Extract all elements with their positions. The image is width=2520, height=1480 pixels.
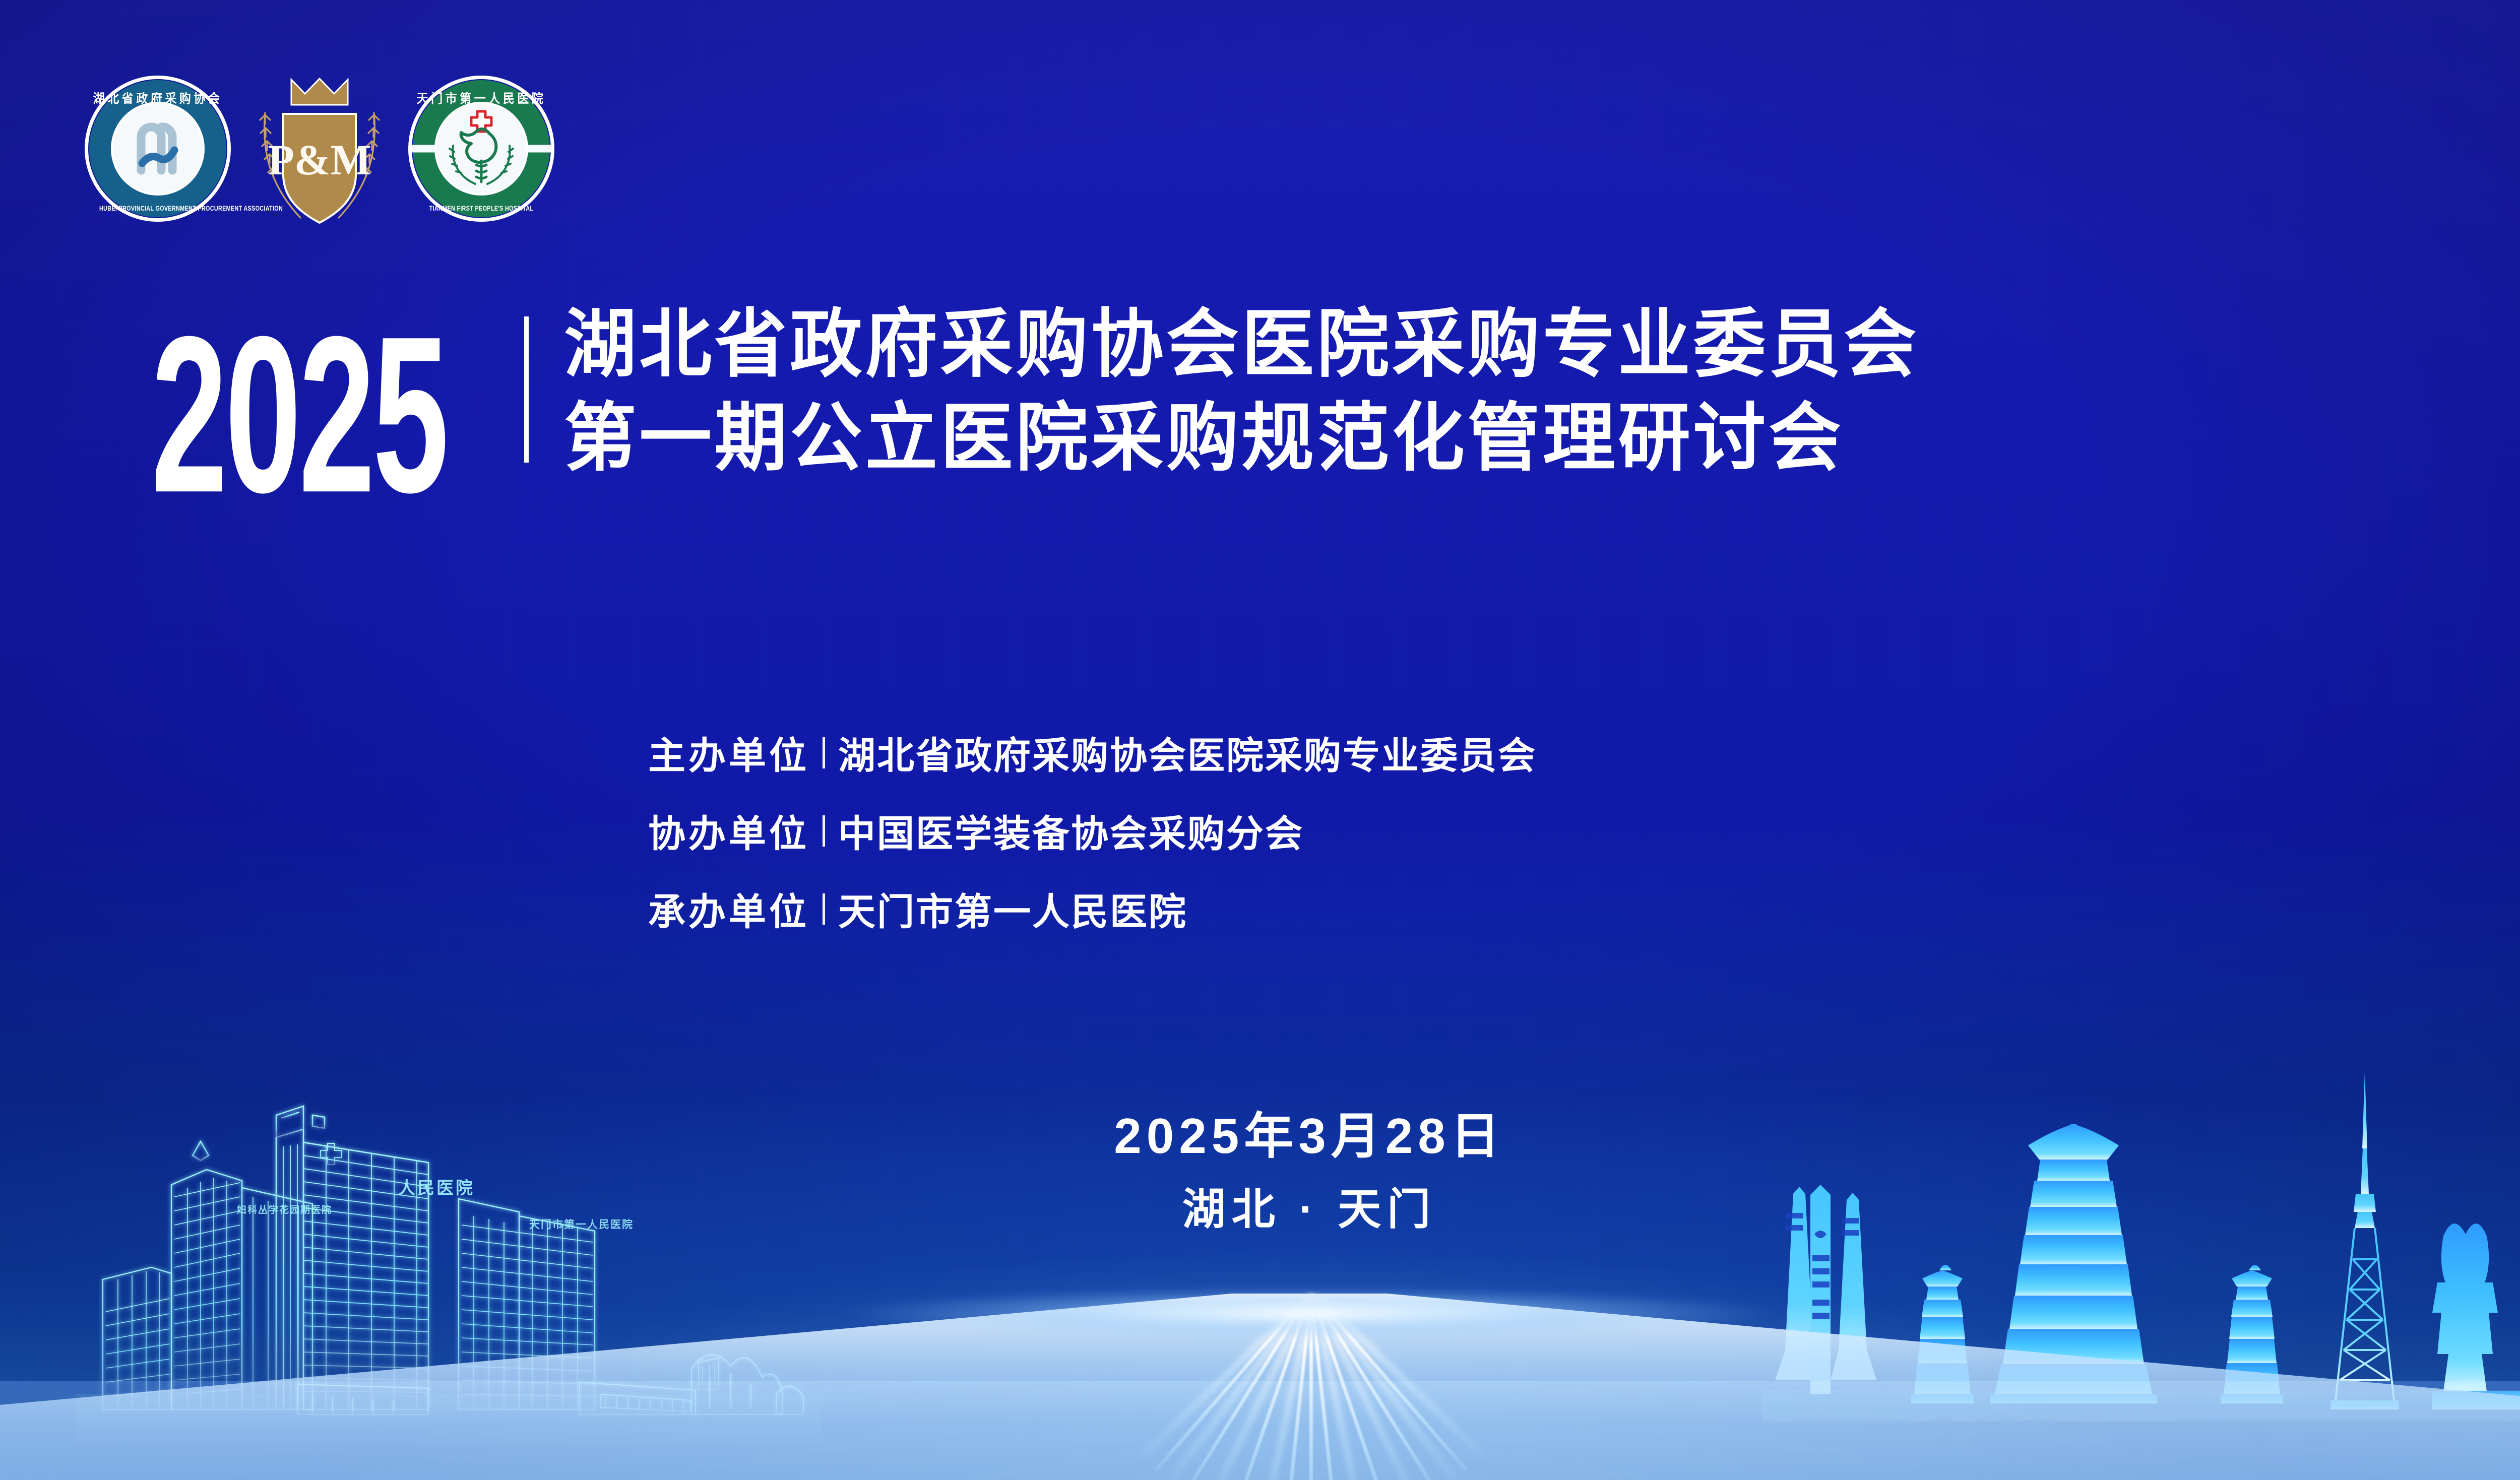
organizer-row-host: 主办单位 湖北省政府采购协会医院采购专业委员会	[648, 726, 1537, 780]
event-datetime-block: 2025年3月28日 湖北 · 天门	[0, 1108, 2520, 1235]
organizer-value: 湖北省政府采购协会医院采购专业委员会	[838, 726, 1537, 780]
event-place: 湖北 · 天门	[0, 1185, 2520, 1235]
organizer-label: 主办单位	[648, 726, 809, 780]
title-line-1: 湖北省政府采购协会医院采购专业委员会	[564, 307, 1919, 382]
pm-shield-icon: P&M	[252, 76, 387, 227]
organizer-label: 承办单位	[648, 882, 809, 936]
headline-block: 2025 湖北省政府采购协会医院采购专业委员会 第一期公立医院采购规范化管理研讨…	[151, 307, 1961, 476]
hubei-monogram-icon	[120, 111, 196, 186]
logo-row: 湖北省政府采购协会 HUBEI PROVINCIAL GOVERNMENT PR…	[85, 76, 554, 229]
organizer-value: 天门市第一人民医院	[838, 882, 1187, 936]
caduceus-icon	[476, 161, 486, 182]
organizer-list: 主办单位 湖北省政府采购协会医院采购专业委员会 协办单位 中国医学装备协会采购分…	[648, 726, 1537, 936]
seal-chinese-text: 湖北省政府采购协会	[91, 89, 225, 107]
conference-banner: 湖北省政府采购协会 HUBEI PROVINCIAL GOVERNMENT PR…	[0, 0, 2520, 1480]
seal-english-text: HUBEI PROVINCIAL GOVERNMENT PROCUREMENT …	[99, 205, 216, 212]
event-date: 2025年3月28日	[0, 1108, 2520, 1165]
title-line-2: 第一期公立医院采购规范化管理研讨会	[564, 401, 1919, 476]
year-2025: 2025	[151, 307, 447, 526]
title-lines: 湖北省政府采购协会医院采购专业委员会 第一期公立医院采购规范化管理研讨会	[564, 307, 1961, 476]
logo-pm-shield: P&M	[252, 76, 387, 229]
hospital-emblem-icon	[441, 108, 522, 189]
seal-chinese-text: 天门市第一人民医院	[414, 89, 549, 107]
organizer-separator	[823, 737, 825, 768]
logo-hubei-procurement-association: 湖北省政府采购协会 HUBEI PROVINCIAL GOVERNMENT PR…	[85, 76, 231, 222]
organizer-label: 协办单位	[648, 804, 809, 858]
organizer-separator	[823, 815, 825, 847]
organizer-row-organizer: 承办单位 天门市第一人民医院	[648, 882, 1537, 936]
svg-text:P&M: P&M	[268, 136, 371, 184]
logo-tianmen-first-peoples-hospital: 天门市第一人民医院 TIANMEN FIRST PEOPLE'S HOSPITA…	[408, 76, 554, 222]
organizer-row-cohost: 协办单位 中国医学装备协会采购分会	[648, 804, 1537, 858]
dove-icon	[461, 129, 496, 162]
organizer-separator	[823, 893, 825, 925]
seal-english-text: TIANMEN FIRST PEOPLE'S HOSPITAL	[423, 205, 540, 212]
headline-divider	[524, 316, 529, 463]
organizer-value: 中国医学装备协会采购分会	[838, 804, 1304, 858]
